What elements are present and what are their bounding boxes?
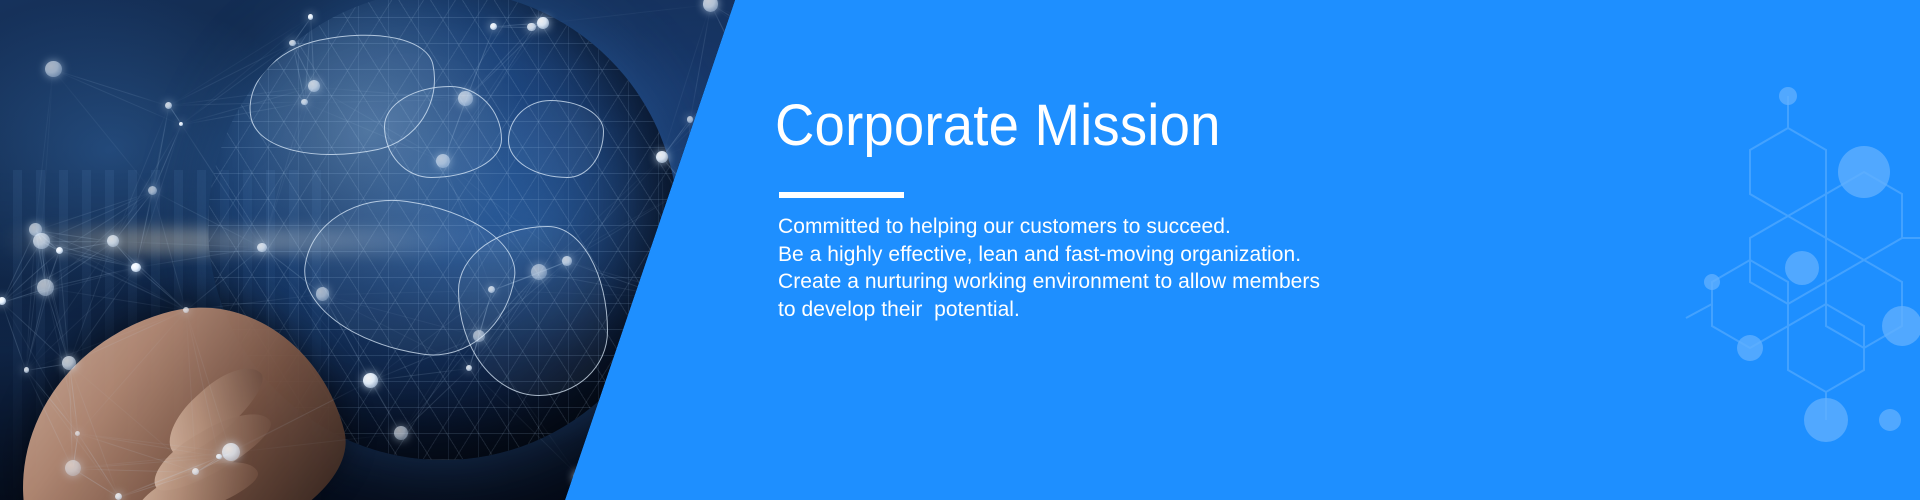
network-node <box>289 40 296 47</box>
network-link <box>665 188 688 297</box>
network-node <box>734 57 744 67</box>
network-link <box>665 259 760 297</box>
mission-line: Be a highly effective, lean and fast-mov… <box>778 241 1418 269</box>
network-node <box>573 471 585 483</box>
mission-line: to develop their potential. <box>778 296 1418 324</box>
network-node <box>656 151 668 163</box>
network-link <box>665 258 790 297</box>
network-node <box>755 253 766 264</box>
corporate-mission-banner: Corporate Mission Committed to helping o… <box>0 0 1920 500</box>
network-node <box>222 443 240 461</box>
network-node <box>216 454 222 460</box>
network-node <box>473 330 485 342</box>
network-node <box>394 426 408 440</box>
network-link <box>714 259 760 304</box>
network-node <box>257 243 266 252</box>
network-node <box>45 61 61 77</box>
network-node <box>65 460 81 476</box>
network-link <box>714 304 738 472</box>
network-node <box>301 99 307 105</box>
network-node <box>56 247 63 254</box>
mission-line: Committed to helping our customers to su… <box>778 213 1418 241</box>
network-link <box>665 296 714 304</box>
banner-content: Corporate Mission Committed to helping o… <box>775 0 1775 500</box>
network-node <box>527 23 536 32</box>
network-node <box>75 431 80 436</box>
network-node <box>363 373 378 388</box>
network-link <box>689 120 760 260</box>
network-node <box>316 287 330 301</box>
network-link <box>662 157 791 259</box>
mission-line: Create a nurturing working environment t… <box>778 268 1418 296</box>
network-node <box>710 298 720 308</box>
network-node <box>735 468 740 473</box>
network-node <box>131 263 141 273</box>
network-node <box>29 223 42 236</box>
network-link <box>580 470 738 478</box>
network-node <box>562 256 572 266</box>
page-title: Corporate Mission <box>775 97 1221 155</box>
network-node <box>681 181 694 194</box>
network-node <box>458 91 473 106</box>
network-node <box>537 17 549 29</box>
network-node <box>308 80 320 92</box>
network-link <box>687 188 715 304</box>
network-link <box>662 157 715 303</box>
network-link <box>687 187 761 259</box>
title-divider <box>779 192 904 198</box>
network-node <box>24 367 30 373</box>
network-node <box>308 14 313 19</box>
network-node <box>687 116 694 123</box>
network-node <box>62 356 76 370</box>
network-node <box>436 154 450 168</box>
network-link <box>662 157 761 260</box>
mission-statement: Committed to helping our customers to su… <box>778 213 1418 323</box>
network-link <box>739 45 778 63</box>
network-node <box>661 291 671 301</box>
network-node <box>466 365 472 371</box>
